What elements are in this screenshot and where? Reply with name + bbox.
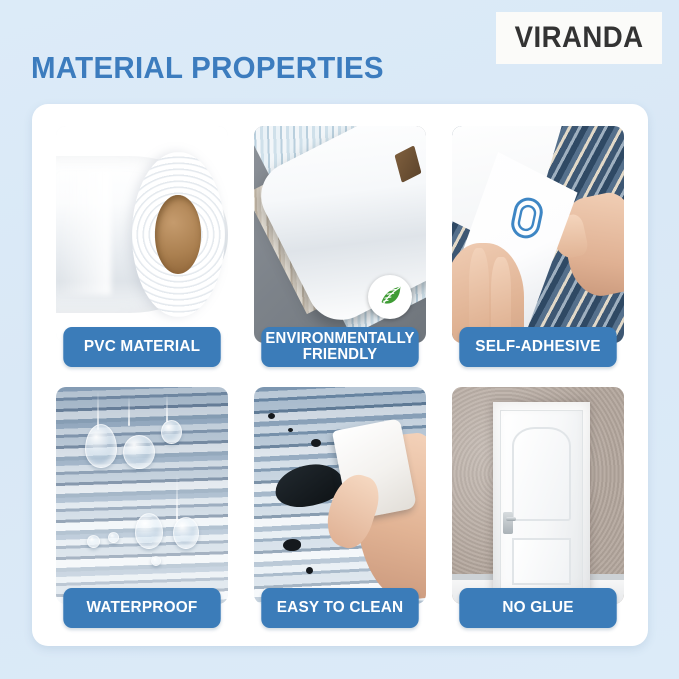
water-droplet [173, 517, 199, 549]
water-droplet [87, 535, 100, 548]
water-droplet [135, 513, 163, 549]
water-droplet [161, 420, 182, 444]
feature-label-self-adhesive: SELF-ADHESIVE [459, 327, 616, 367]
feature-no-glue: NO GLUE [442, 379, 634, 632]
water-droplet [151, 556, 161, 566]
stain-spot [268, 413, 275, 419]
feature-waterproof: WATERPROOF [46, 379, 238, 632]
droplet-trail [166, 394, 168, 422]
door-handle [503, 512, 514, 534]
feature-easy-to-clean: EASY TO CLEAN [244, 379, 436, 632]
feature-image-waterproof [56, 387, 228, 604]
door-frame [493, 402, 589, 593]
brand-name: VIRANDA [515, 21, 644, 55]
feature-label-easy-to-clean: EASY TO CLEAN [261, 588, 418, 628]
pvc-roll-core [155, 195, 201, 273]
stain-spot [283, 539, 301, 551]
label-line-2: FRIENDLY [303, 346, 378, 363]
feature-self-adhesive: SELF-ADHESIVE [442, 118, 634, 371]
adhesive-marble-background [452, 126, 624, 343]
feature-label-waterproof: WATERPROOF [63, 588, 220, 628]
features-grid: PVC MATERIAL [46, 118, 634, 632]
env-background [254, 126, 426, 343]
pvc-roll-illustration [56, 126, 228, 343]
feature-image-easy-to-clean [254, 387, 426, 604]
brand-logo-box: VIRANDA [496, 12, 662, 64]
leaf-icon [368, 275, 412, 319]
feature-image-pvc-material [56, 126, 228, 343]
feature-label-environmentally-friendly: ENVIRONMENTALLY FRIENDLY [261, 327, 418, 367]
water-droplet [108, 532, 119, 543]
water-droplet [123, 435, 155, 469]
stain-spot [306, 567, 313, 574]
feature-pvc-material: PVC MATERIAL [46, 118, 238, 371]
infographic-root: VIRANDA MATERIAL PROPERTIES PVC MATERIAL [0, 0, 679, 679]
door-leaf [500, 410, 583, 593]
door-panel-bottom [512, 538, 572, 585]
droplet-trail [128, 396, 130, 426]
label-line-1: ENVIRONMENTALLY [265, 330, 414, 347]
waterproof-surface [56, 387, 228, 604]
feature-image-environmentally-friendly [254, 126, 426, 343]
feature-environmentally-friendly: ENVIRONMENTALLY FRIENDLY [244, 118, 436, 371]
feature-label-pvc-material: PVC MATERIAL [63, 327, 220, 367]
door-panel-top [512, 427, 572, 521]
features-card: PVC MATERIAL [32, 104, 648, 646]
stain-spot [311, 439, 321, 447]
pvc-roll-highlight [59, 169, 111, 295]
feature-image-self-adhesive [452, 126, 624, 343]
feature-label-no-glue: NO GLUE [459, 588, 616, 628]
page-title: MATERIAL PROPERTIES [31, 50, 384, 86]
feature-image-no-glue [452, 387, 624, 604]
